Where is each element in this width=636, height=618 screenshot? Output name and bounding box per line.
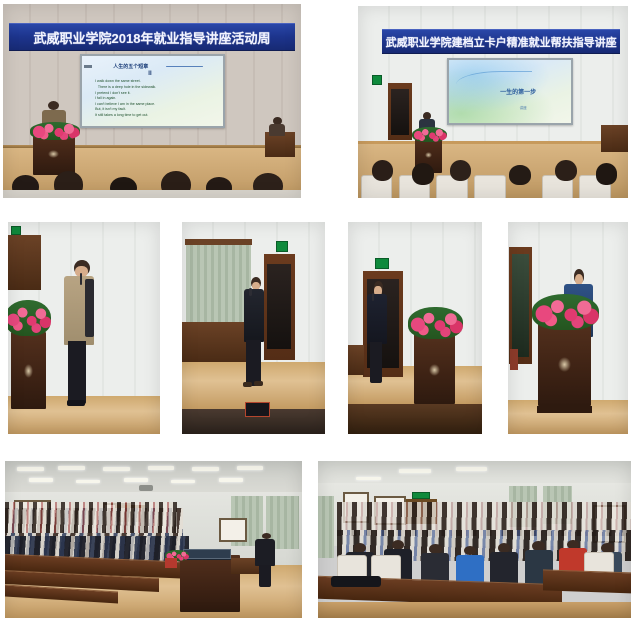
photo-speaker-tan-coat-with-microphone[interactable]	[8, 222, 160, 434]
speaker-4	[242, 277, 271, 387]
slide-line-3: I pretend I don't see it.	[95, 91, 130, 95]
photo-speaker-blue-sweater-at-podium[interactable]	[508, 222, 628, 434]
slide-line-4: I fall in again.	[95, 96, 116, 100]
photo-audience-seated-rows[interactable]	[318, 461, 631, 618]
banner-title-1: 武威职业学院2018年就业指导讲座活动周	[9, 23, 295, 50]
photo-speaker-dark-suit-walking[interactable]	[182, 222, 325, 434]
photo-lecture-hall-banner-precision[interactable]: 武威职业学院建档立卡户精准就业帮扶指导讲座 一生的第一步 讲座	[358, 6, 628, 198]
projection-screen-2: 一生的第一步 讲座	[447, 58, 573, 125]
photo-lecture-hall-banner-wide[interactable]: 武威职业学院2018年就业指导讲座活动周 人生的五个短章 II I walk d…	[3, 4, 301, 198]
slide-line-1: I walk down the same street.	[95, 79, 141, 83]
projection-screen-1: 人生的五个短章 II I walk down the same street. …	[80, 54, 224, 128]
microphone-icon	[249, 288, 251, 296]
slide-line-6: But, it isn't my fault.	[95, 107, 126, 111]
speaker-3	[63, 260, 103, 404]
slide-title-1: 人生的五个短章	[113, 63, 148, 70]
slide-line-7: It still takes a long time to get out.	[95, 113, 148, 117]
podium-flowers-1	[30, 122, 81, 139]
slide-line-5: I can't believe I am in the same place.	[95, 102, 155, 106]
banner-title-2: 武威职业学院建档立卡户精准就业帮扶指导讲座	[382, 29, 620, 54]
slide-subtitle-2: 讲座	[520, 106, 527, 111]
slide-line-2: There is a deep hole in the sidewalk.	[98, 85, 156, 89]
photo-auditorium-full-audience-with-speaker[interactable]	[5, 461, 302, 618]
photo-speaker-beside-podium[interactable]	[348, 222, 482, 434]
microphone-icon	[372, 293, 374, 301]
speaker-5	[367, 281, 390, 383]
slide-title-2: 一生的第一步	[500, 87, 536, 96]
photo-collage-page: 武威职业学院2018年就业指导讲座活动周 人生的五个短章 II I walk d…	[0, 0, 636, 618]
speaker-7	[254, 533, 278, 586]
projector-icon	[139, 485, 154, 491]
slide-chapter-1: II	[148, 71, 151, 77]
